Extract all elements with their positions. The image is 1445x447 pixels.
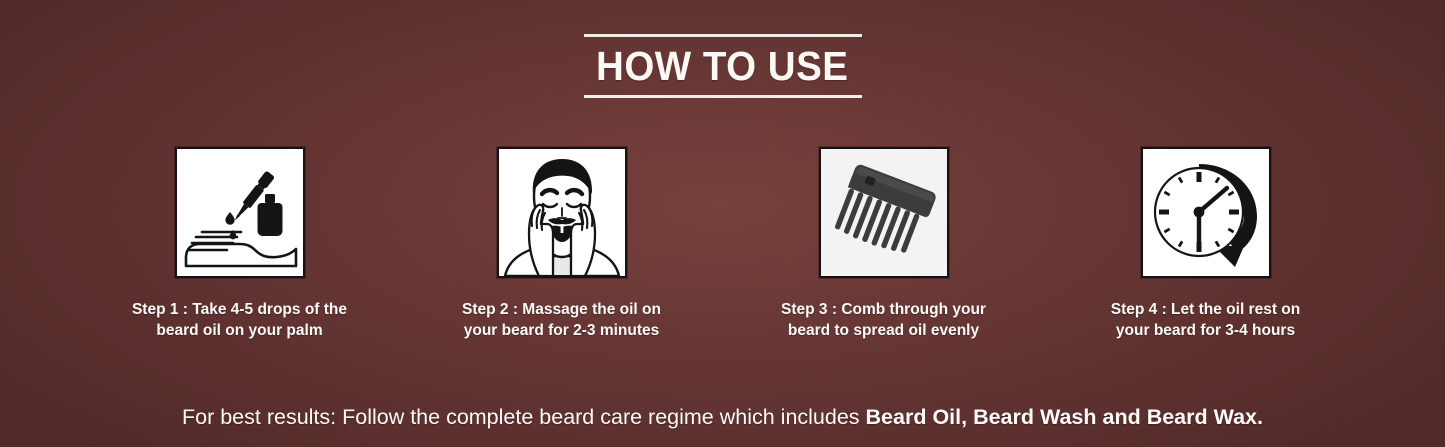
step-item-3: Step 3 : Comb through your beard to spre… — [723, 147, 1045, 342]
step-3-caption-line1: Step 3 : Comb through your — [781, 301, 986, 318]
step-2-caption-line1: Step 2 : Massage the oil on — [462, 301, 661, 318]
title-block: HOW TO USE — [0, 34, 1445, 98]
beard-comb-icon — [825, 154, 943, 272]
step-item-2: Step 2 : Massage the oil on your beard f… — [401, 147, 723, 342]
footer-note: For best results: Follow the complete be… — [0, 404, 1445, 431]
step-4-icon-box — [1141, 147, 1271, 278]
title-rule-bottom — [584, 95, 862, 98]
step-2-caption-line2: your beard for 2-3 minutes — [464, 322, 660, 339]
step-1-caption-line1: Step 1 : Take 4-5 drops of the — [132, 301, 347, 318]
dropper-onto-palm-icon — [181, 154, 299, 272]
step-2-caption: Step 2 : Massage the oil on your beard f… — [429, 300, 695, 342]
step-2-icon-box — [497, 147, 627, 278]
step-3-caption: Step 3 : Comb through your beard to spre… — [751, 300, 1017, 342]
step-item-4: Step 4 : Let the oil rest on your beard … — [1045, 147, 1367, 342]
step-4-caption-line2: your beard for 3-4 hours — [1116, 322, 1295, 339]
how-to-use-banner: HOW TO USE — [0, 0, 1445, 447]
step-1-caption-line2: beard oil on your palm — [156, 322, 322, 339]
step-1-caption: Step 1 : Take 4-5 drops of the beard oil… — [107, 300, 373, 342]
step-4-caption: Step 4 : Let the oil rest on your beard … — [1073, 300, 1339, 342]
step-3-caption-line2: beard to spread oil evenly — [788, 322, 979, 339]
bearded-man-massaging-face-icon — [499, 150, 625, 276]
footer-note-products: Beard Oil, Beard Wash and Beard Wax. — [866, 405, 1263, 429]
step-item-1: Step 1 : Take 4-5 drops of the beard oil… — [79, 147, 401, 342]
clock-with-arrow-icon — [1147, 154, 1265, 272]
page-title: HOW TO USE — [596, 37, 848, 95]
step-4-caption-line1: Step 4 : Let the oil rest on — [1111, 301, 1300, 318]
step-3-icon-box — [819, 147, 949, 278]
footer-note-regular: For best results: Follow the complete be… — [182, 405, 866, 429]
steps-row: Step 1 : Take 4-5 drops of the beard oil… — [0, 147, 1445, 342]
step-1-icon-box — [175, 147, 305, 278]
